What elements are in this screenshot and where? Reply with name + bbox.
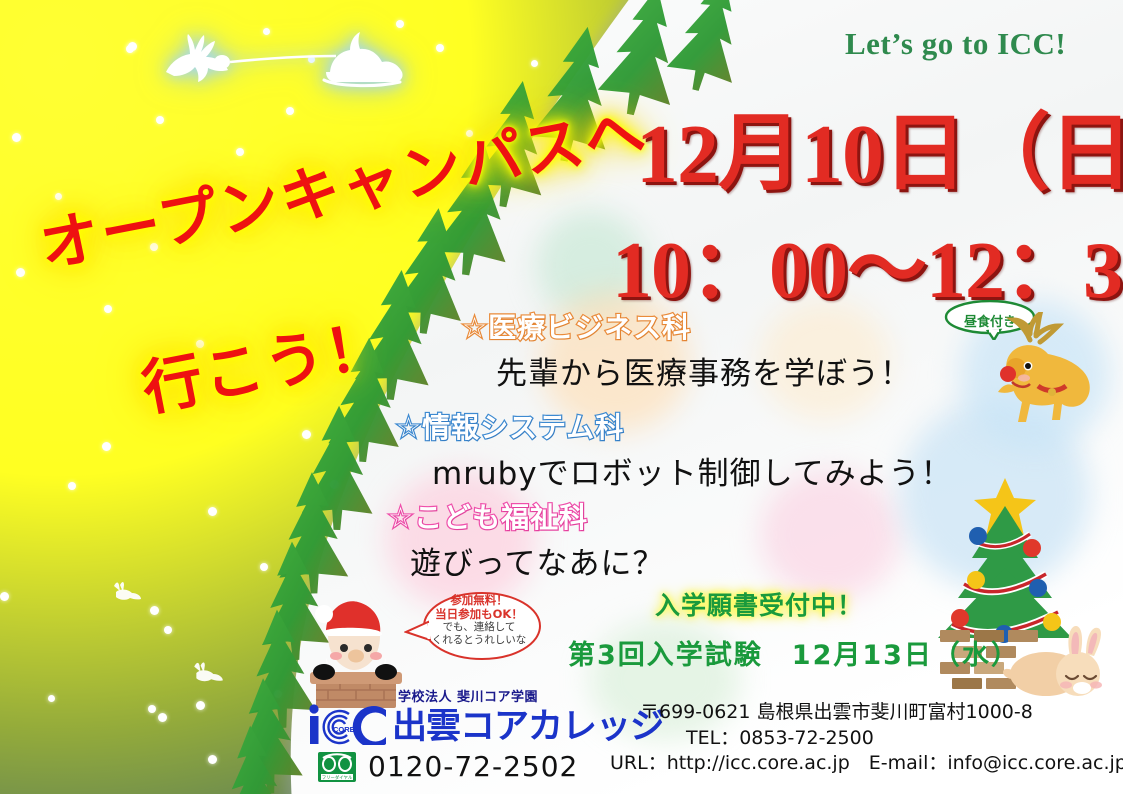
contact-web[interactable]: URL：http://icc.core.ac.jp E-mail：info@ic… (610, 751, 1123, 777)
course-item-information-systems: ☆情報システム科 mrubyでロボット制御してみよう！ (396, 406, 953, 493)
reindeer-icon (968, 312, 1108, 442)
course-item-medical-business: ☆医療ビジネス科 先輩から医療事務を学ぼう！ (462, 306, 912, 393)
santa-chimney-icon (300, 592, 410, 710)
course-title: ☆こども福祉科 (388, 501, 588, 534)
bubble-line-1: 参加無料！ (420, 593, 538, 607)
contact-block: 〒699-0621 島根県出雲市斐川町富村1000-8 TEL：0853-72-… (640, 700, 1123, 777)
tagline: Let’s go to ICC! (845, 26, 1066, 62)
exam-detail: 第3回入学試験 12月13日（水） (568, 633, 1020, 672)
freedial-number: 0120-72-2502 (368, 750, 578, 783)
course-subtitle: mrubyでロボット制御してみよう！ (432, 448, 953, 493)
course-title: ☆医療ビジネス科 (462, 311, 691, 344)
svg-text:フリーダイヤル: フリーダイヤル (322, 774, 353, 781)
course-item-child-welfare: ☆こども福祉科 遊びってなあに？ (388, 496, 664, 583)
santa-bubble-text: 参加無料！ 当日参加もOK！ でも、連絡して くれるとうれしいな (420, 593, 538, 647)
contact-tel: TEL：0853-72-2500 (686, 726, 1123, 752)
bubble-line-4: くれるとうれしいな (420, 634, 538, 647)
icc-logo-mark-icon: CORE (306, 703, 390, 745)
contact-address: 〒699-0621 島根県出雲市斐川町富村1000-8 (640, 700, 1123, 726)
open-campus-poster: Let’s go to ICC! オープンキャンパスへ 行こう！ 12月10日（… (0, 0, 1123, 794)
icc-logo[interactable]: CORE 出雲コアカレッジ (306, 698, 664, 749)
exam-heading: 入学願書受付中！ (655, 586, 863, 622)
course-subtitle: 遊びってなあに？ (410, 538, 664, 583)
event-date: 12月10日（日） (636, 86, 1123, 207)
college-name: 出雲コアカレッジ (392, 698, 664, 749)
bubble-line-3: でも、連絡して (420, 621, 538, 634)
freedial-block[interactable]: フリーダイヤル 0120-72-2502 (318, 750, 578, 783)
bubble-line-2: 当日参加もOK！ (420, 607, 538, 621)
santa-speech-bubble: 参加無料！ 当日参加もOK！ でも、連絡して くれるとうれしいな (404, 588, 544, 666)
event-time: 10：00〜12：30 (612, 205, 1123, 321)
freedial-icon: フリーダイヤル (318, 752, 356, 782)
course-subtitle: 先輩から医療事務を学ぼう！ (496, 348, 912, 393)
course-title: ☆情報システム科 (396, 411, 624, 444)
svg-text:CORE: CORE (333, 725, 355, 734)
